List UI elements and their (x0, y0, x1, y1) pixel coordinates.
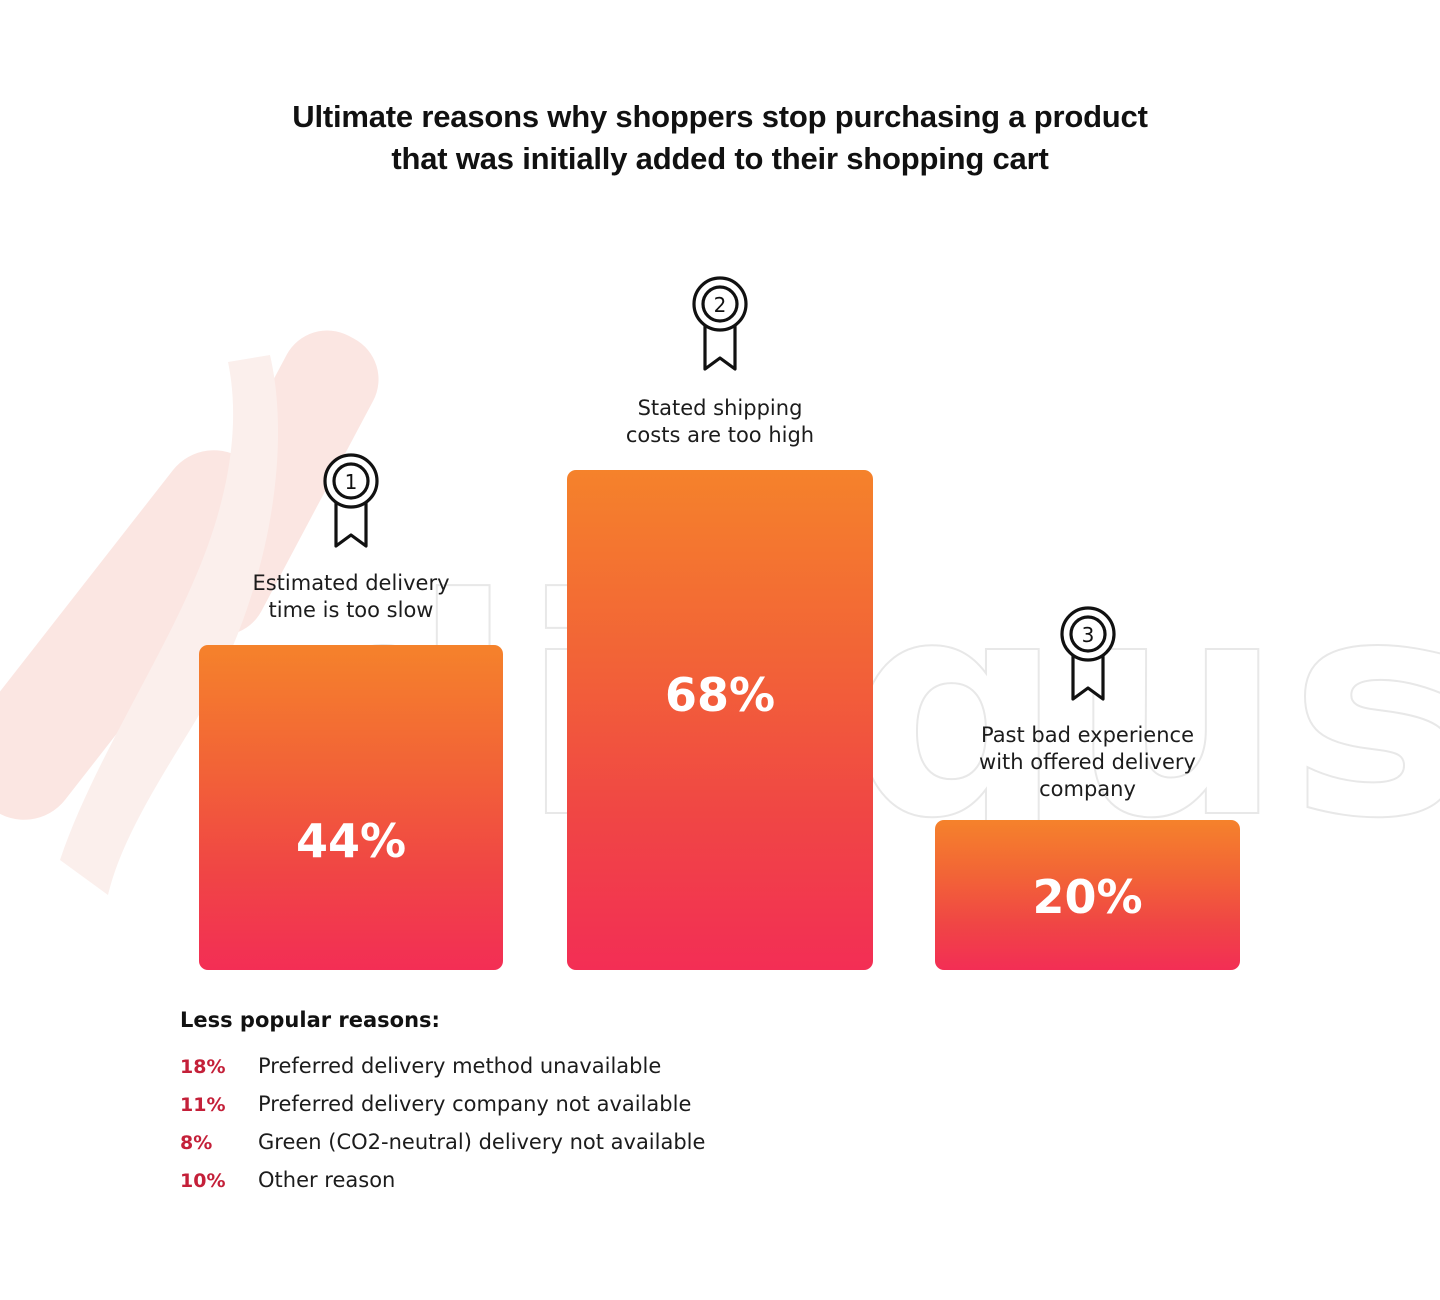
medal-rank-3-icon: 3 (1043, 603, 1133, 703)
bar-value-2: 68% (665, 668, 775, 722)
legend-heading: Less popular reasons: (180, 1008, 940, 1032)
bar-value-1: 44% (296, 814, 406, 868)
bar-2: 68% (567, 470, 873, 970)
legend-percent: 11% (180, 1094, 258, 1116)
bar-label-3-line-1: Past bad experience (935, 722, 1240, 749)
bar-value-3: 20% (1032, 870, 1142, 924)
bar-label-3-line-3: company (935, 776, 1240, 803)
legend-percent: 10% (180, 1170, 258, 1192)
medal-rank-3-number: 3 (1082, 623, 1095, 647)
legend-label: Preferred delivery company not available (258, 1092, 691, 1116)
bar-label-2-line-1: Stated shipping (567, 395, 873, 422)
list-item: 18% Preferred delivery method unavailabl… (180, 1054, 940, 1078)
bar-3: 20% (935, 820, 1240, 970)
bar-label-1-line-1: Estimated delivery (199, 570, 503, 597)
medal-rank-2-icon: 2 (675, 273, 765, 373)
legend-percent: 18% (180, 1056, 258, 1078)
list-item: 8% Green (CO2-neutral) delivery not avai… (180, 1130, 940, 1154)
bar-label-2: Stated shipping costs are too high (567, 395, 873, 449)
list-item: 11% Preferred delivery company not avail… (180, 1092, 940, 1116)
legend-percent: 8% (180, 1132, 258, 1154)
medal-rank-1-icon: 1 (306, 450, 396, 550)
medal-rank-2-number: 2 (714, 293, 727, 317)
bar-1: 44% (199, 645, 503, 970)
less-popular-reasons-legend: Less popular reasons: 18% Preferred deli… (180, 1008, 940, 1206)
bar-label-1: Estimated delivery time is too slow (199, 570, 503, 624)
list-item: 10% Other reason (180, 1168, 940, 1192)
bar-label-3-line-2: with offered delivery (935, 749, 1240, 776)
bar-label-1-line-2: time is too slow (199, 597, 503, 624)
bar-label-2-line-2: costs are too high (567, 422, 873, 449)
legend-label: Preferred delivery method unavailable (258, 1054, 661, 1078)
legend-label: Green (CO2-neutral) delivery not availab… (258, 1130, 705, 1154)
legend-label: Other reason (258, 1168, 395, 1192)
medal-rank-1-number: 1 (345, 470, 358, 494)
bar-label-3: Past bad experience with offered deliver… (935, 722, 1240, 803)
